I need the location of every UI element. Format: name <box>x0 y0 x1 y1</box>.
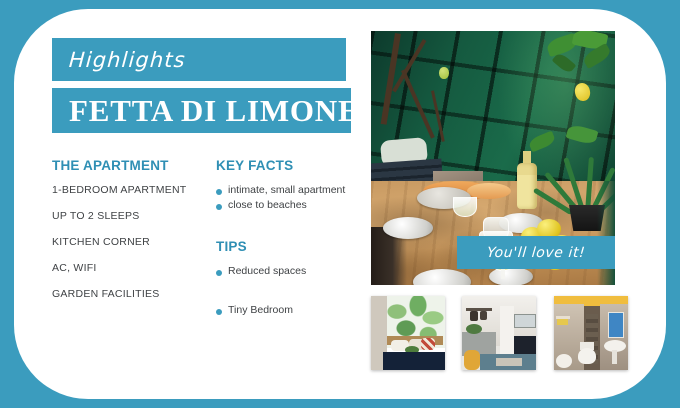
love-it-badge-text: You'll love it! <box>486 245 586 261</box>
apartment-heading: THE APARTMENT <box>52 158 216 173</box>
hero-photo: You'll love it! <box>371 31 615 285</box>
love-it-badge: You'll love it! <box>457 236 615 269</box>
key-facts-heading: KEY FACTS <box>216 158 362 173</box>
bullet-dot-icon <box>216 204 222 210</box>
highlights-title-text: Highlights <box>68 48 186 72</box>
thumbnail-bathroom <box>554 296 628 370</box>
drinking-glass <box>453 197 477 217</box>
apartment-item: 1-BEDROOM APARTMENT <box>52 184 216 196</box>
bullet-dot-icon <box>216 270 222 276</box>
hanging-pan <box>480 311 487 320</box>
info-columns: THE APARTMENT 1-BEDROOM APARTMENT UP TO … <box>52 158 362 319</box>
key-facts-item-label: close to beaches <box>228 199 307 212</box>
key-facts-item: close to beaches <box>216 199 362 212</box>
property-title-bar: FETTA DI LIMONE <box>52 88 351 133</box>
lemonade-bottle <box>517 163 537 209</box>
key-facts-item: intimate, small apartment <box>216 184 362 197</box>
hanging-pan <box>470 311 478 321</box>
apartment-column: THE APARTMENT 1-BEDROOM APARTMENT UP TO … <box>52 158 216 319</box>
dark-sofa <box>514 336 536 356</box>
bidet <box>556 354 572 368</box>
spacer <box>216 280 362 304</box>
tips-item: Tiny Bedroom <box>216 304 362 317</box>
bullet-dot-icon <box>216 309 222 315</box>
wall-post-shadow <box>597 181 615 285</box>
wine-glass-stem <box>501 269 505 279</box>
navy-bedspread <box>383 352 445 370</box>
yellow-stool <box>464 350 480 370</box>
thumbnail-bedroom <box>371 296 445 370</box>
key-facts-item-label: intimate, small apartment <box>228 184 345 197</box>
folded-towel <box>557 319 568 325</box>
wall-mirror <box>514 314 536 328</box>
floor-rug <box>496 358 522 366</box>
sink-pedestal <box>612 350 617 364</box>
tips-item: Reduced spaces <box>216 265 362 278</box>
facts-column: KEY FACTS intimate, small apartment clos… <box>216 158 362 319</box>
header-block: Highlights FETTA DI LIMONE <box>52 38 352 133</box>
hanging-lemon <box>439 67 449 79</box>
property-title-text: FETTA DI LIMONE <box>69 93 359 129</box>
thumbnail-kitchen <box>462 296 536 370</box>
counter-plant <box>466 324 482 334</box>
bathroom-mirror <box>608 312 624 338</box>
wall-column <box>500 306 514 358</box>
apartment-item: KITCHEN CORNER <box>52 236 216 248</box>
toilet <box>578 348 596 364</box>
highlights-title-bar: Highlights <box>52 38 346 81</box>
poster-canvas: Highlights FETTA DI LIMONE THE APARTMENT… <box>0 0 680 408</box>
bullet-dot-icon <box>216 189 222 195</box>
tips-item-label: Tiny Bedroom <box>228 304 293 317</box>
striped-cushion <box>421 338 435 350</box>
apartment-item: UP TO 2 SLEEPS <box>52 210 216 222</box>
plate <box>383 217 433 239</box>
apartment-item: GARDEN FACILITIES <box>52 288 216 300</box>
apartment-item: AC, WIFI <box>52 262 216 274</box>
tips-heading: TIPS <box>216 239 362 254</box>
tips-item-label: Reduced spaces <box>228 265 306 278</box>
